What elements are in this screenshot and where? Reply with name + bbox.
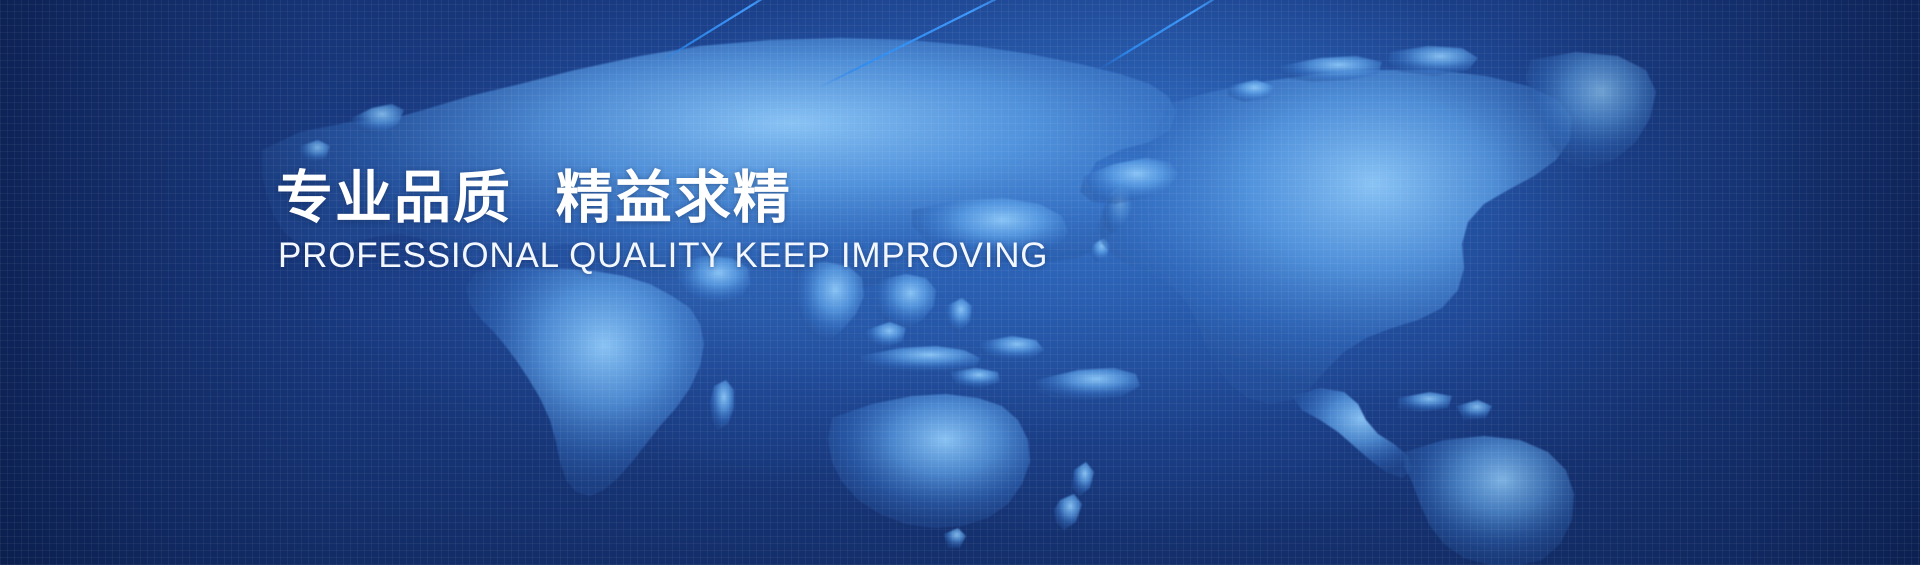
subheadline-english: PROFESSIONAL QUALITY KEEP IMPROVING xyxy=(278,237,1048,276)
hero-banner: 专业品质 精益求精 PROFESSIONAL QUALITY KEEP IMPR… xyxy=(0,0,1920,565)
slogan-block: 专业品质 精益求精 PROFESSIONAL QUALITY KEEP IMPR… xyxy=(276,168,1048,276)
background-grid-texture xyxy=(0,0,1920,565)
headline-chinese: 专业品质 精益求精 xyxy=(276,168,1048,228)
